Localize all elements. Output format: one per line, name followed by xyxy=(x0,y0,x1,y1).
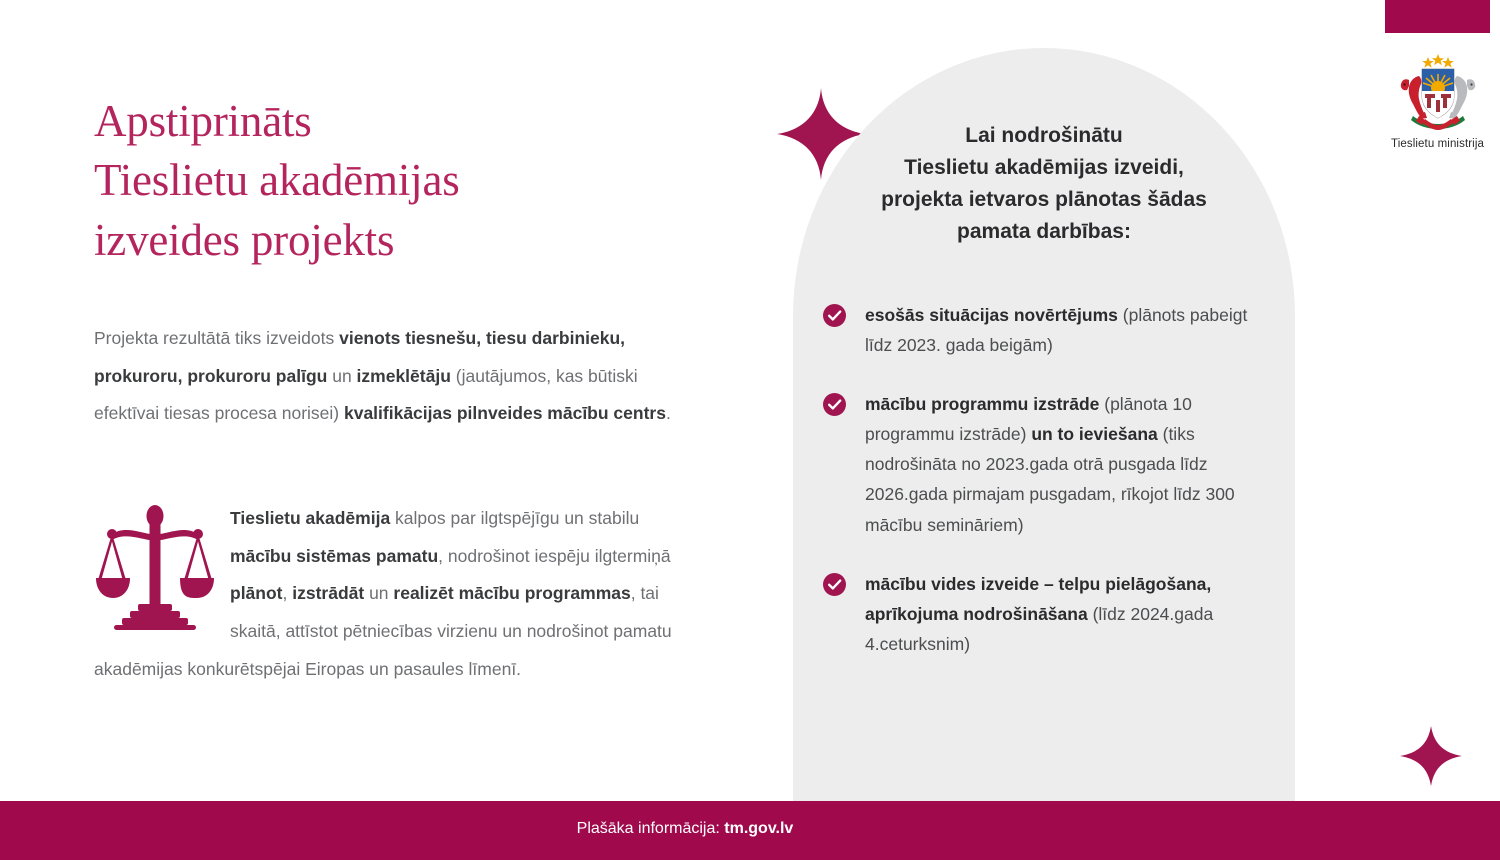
headline-block: Apstiprināts Tieslietu akadēmijas izveid… xyxy=(94,92,694,270)
check-circle-icon: esošās situācijas novērtējums (plānots p… xyxy=(823,300,1269,360)
infographic-canvas: Tieslietu ministrija Apstiprināts Tiesli… xyxy=(0,0,1500,860)
footer-bar: Plašāka informācija: tm.gov.lv xyxy=(0,801,1500,860)
check-circle-icon: mācību programmu izstrāde (plānota 10 pr… xyxy=(823,389,1269,539)
ministry-logo: Tieslietu ministrija xyxy=(1355,48,1500,150)
page-title: Apstiprināts Tieslietu akadēmijas izveid… xyxy=(94,92,694,270)
actions-panel-title: Lai nodrošinātu Tieslietu akadēmijas izv… xyxy=(793,120,1295,248)
check-circle-icon: mācību vides izveide – telpu pielāgošana… xyxy=(823,569,1269,659)
actions-list: esošās situācijas novērtējums (plānots p… xyxy=(823,300,1269,688)
check-circle-icon xyxy=(823,304,846,327)
footer-info: Plašāka informācija: tm.gov.lv xyxy=(0,820,1500,838)
list-item-text: mācību vides izveide – telpu pielāgošana… xyxy=(865,569,1269,659)
intro-paragraph: Projekta rezultātā tiks izveidots vienot… xyxy=(94,320,674,433)
scales-of-justice-icon xyxy=(94,504,216,632)
academy-paragraph-block: Tieslietu akadēmija kalpos par ilgtspējī… xyxy=(94,500,674,688)
brand-color-block xyxy=(1385,0,1490,33)
check-circle-icon xyxy=(823,393,846,416)
coat-of-arms-icon xyxy=(1355,48,1500,134)
actions-panel: Lai nodrošinātu Tieslietu akadēmijas izv… xyxy=(793,48,1295,801)
list-item-text: mācību programmu izstrāde (plānota 10 pr… xyxy=(865,389,1269,539)
ministry-label: Tieslietu ministrija xyxy=(1355,138,1500,150)
four-point-star-icon-small xyxy=(1400,726,1462,786)
check-circle-icon xyxy=(823,573,846,596)
list-item-text: esošās situācijas novērtējums (plānots p… xyxy=(865,300,1269,360)
